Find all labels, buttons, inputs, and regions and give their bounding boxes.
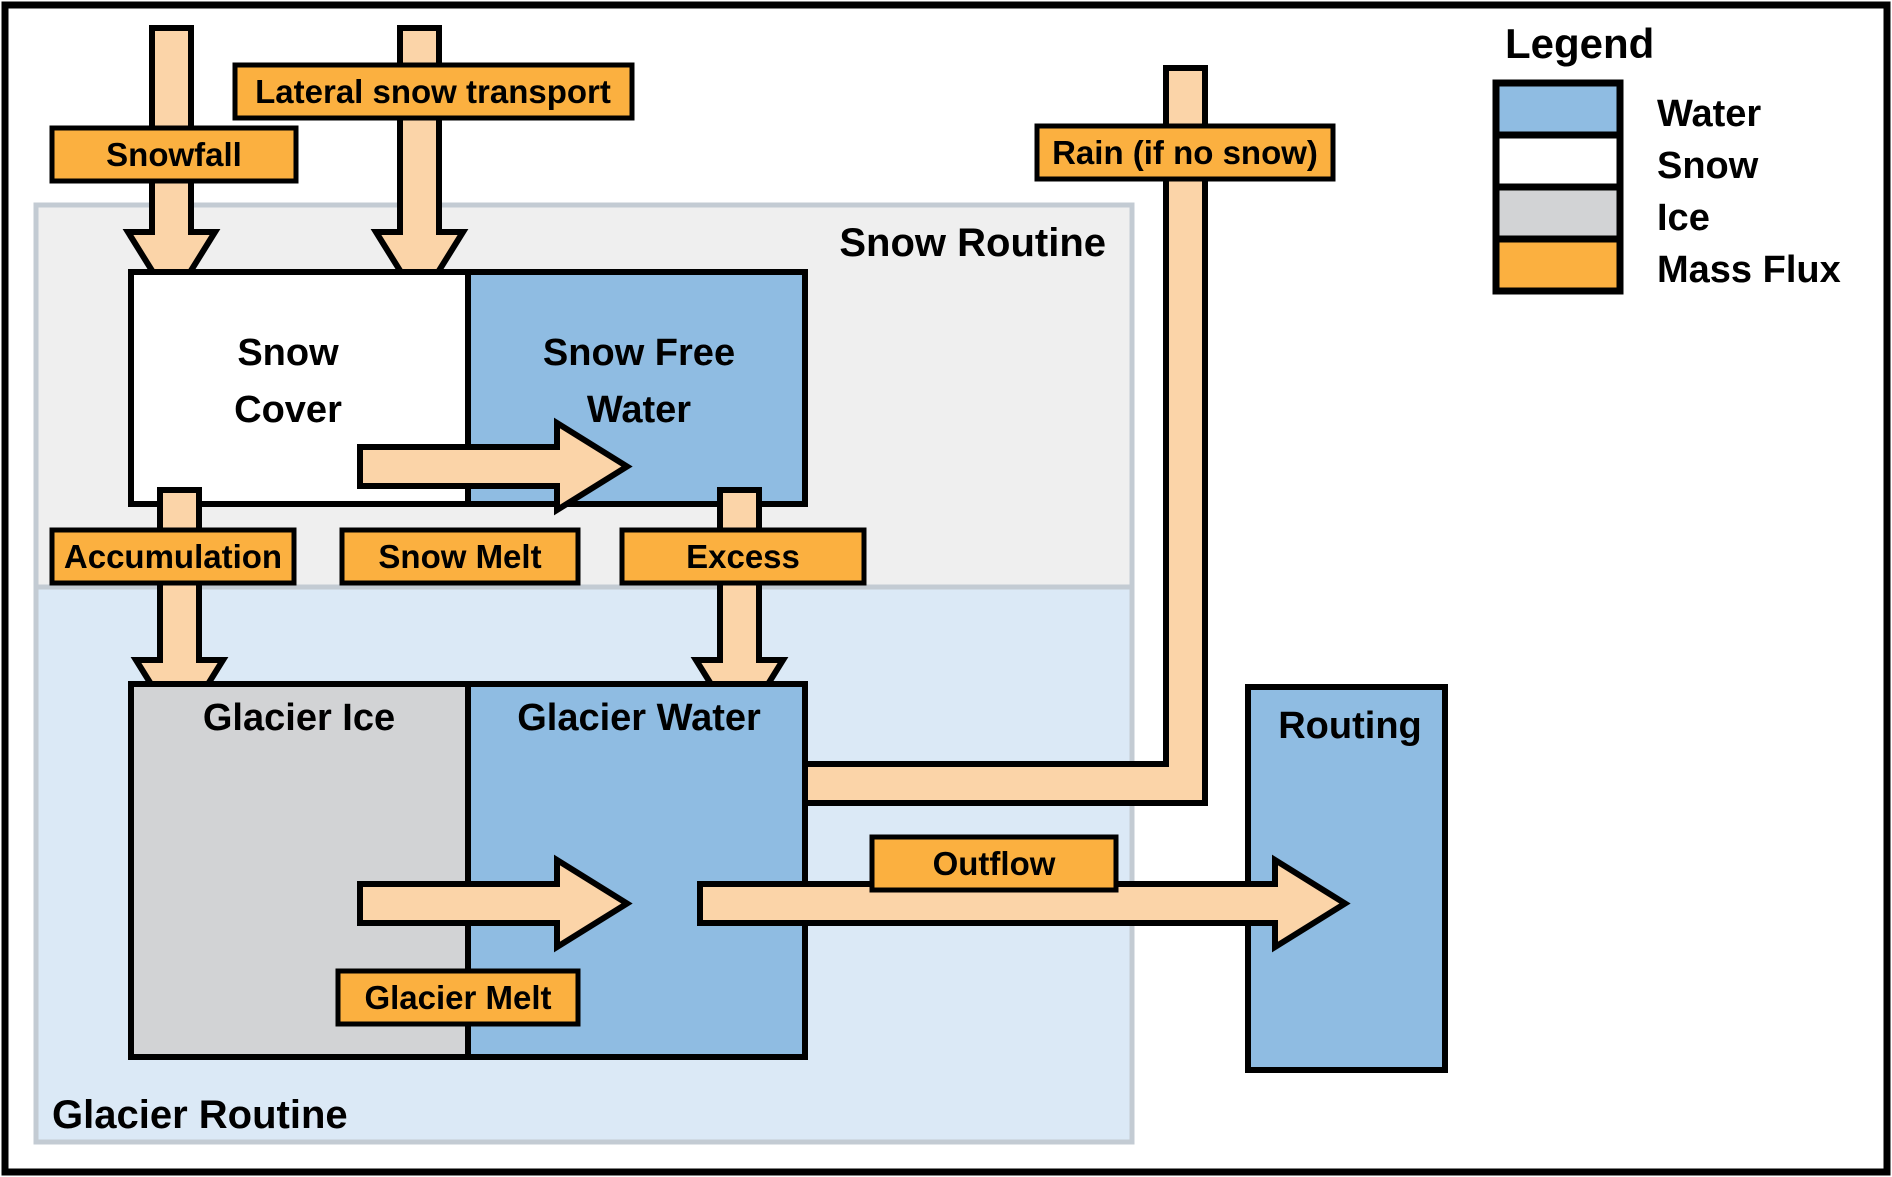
svg-text:Snow Melt: Snow Melt	[378, 538, 541, 575]
legend-label-water: Water	[1657, 93, 1761, 135]
legend-label-snow: Snow	[1657, 145, 1759, 187]
legend-swatch-mass-flux	[1496, 239, 1620, 291]
hydrological-model-flow-diagram: Snow Cover Snow Free Water Glacier Ice G…	[0, 0, 1892, 1177]
svg-text:Snow: Snow	[237, 332, 339, 374]
flux-chip-excess[interactable]: Excess	[622, 530, 864, 583]
svg-text:Glacier Ice: Glacier Ice	[203, 697, 395, 739]
svg-text:Glacier Water: Glacier Water	[517, 697, 761, 739]
flux-chip-lateral-snow-transport[interactable]: Lateral snow transport	[235, 65, 632, 118]
svg-text:Lateral snow transport: Lateral snow transport	[255, 73, 611, 110]
flux-chip-snow-melt[interactable]: Snow Melt	[342, 530, 578, 583]
svg-text:Water: Water	[587, 389, 691, 431]
svg-text:Outflow: Outflow	[933, 845, 1056, 882]
svg-text:Excess: Excess	[686, 538, 800, 575]
legend-swatch-snow	[1496, 135, 1620, 187]
legend-title: Legend	[1505, 20, 1654, 67]
legend-label-ice: Ice	[1657, 197, 1710, 239]
diagram-canvas: Snow Cover Snow Free Water Glacier Ice G…	[0, 0, 1892, 1177]
svg-text:Routing: Routing	[1278, 705, 1422, 747]
legend-swatch-water	[1496, 83, 1620, 135]
svg-text:Cover: Cover	[234, 389, 342, 431]
svg-text:Glacier Melt: Glacier Melt	[364, 979, 551, 1016]
legend-swatch-ice	[1496, 187, 1620, 239]
legend-label-mass-flux: Mass Flux	[1657, 249, 1841, 291]
glacier-routine-title: Glacier Routine	[52, 1093, 348, 1137]
flux-chip-accumulation[interactable]: Accumulation	[52, 530, 294, 583]
flux-chip-rain-if-no-snow[interactable]: Rain (if no snow)	[1037, 126, 1333, 179]
svg-text:Snowfall: Snowfall	[106, 136, 242, 173]
flux-chip-outflow[interactable]: Outflow	[872, 837, 1116, 890]
flux-chip-snowfall[interactable]: Snowfall	[52, 128, 296, 181]
snow-routine-title: Snow Routine	[839, 221, 1106, 265]
svg-text:Rain (if no snow): Rain (if no snow)	[1052, 134, 1318, 171]
svg-text:Snow Free: Snow Free	[543, 332, 735, 374]
flux-chip-glacier-melt[interactable]: Glacier Melt	[338, 971, 578, 1024]
svg-text:Accumulation: Accumulation	[64, 538, 282, 575]
